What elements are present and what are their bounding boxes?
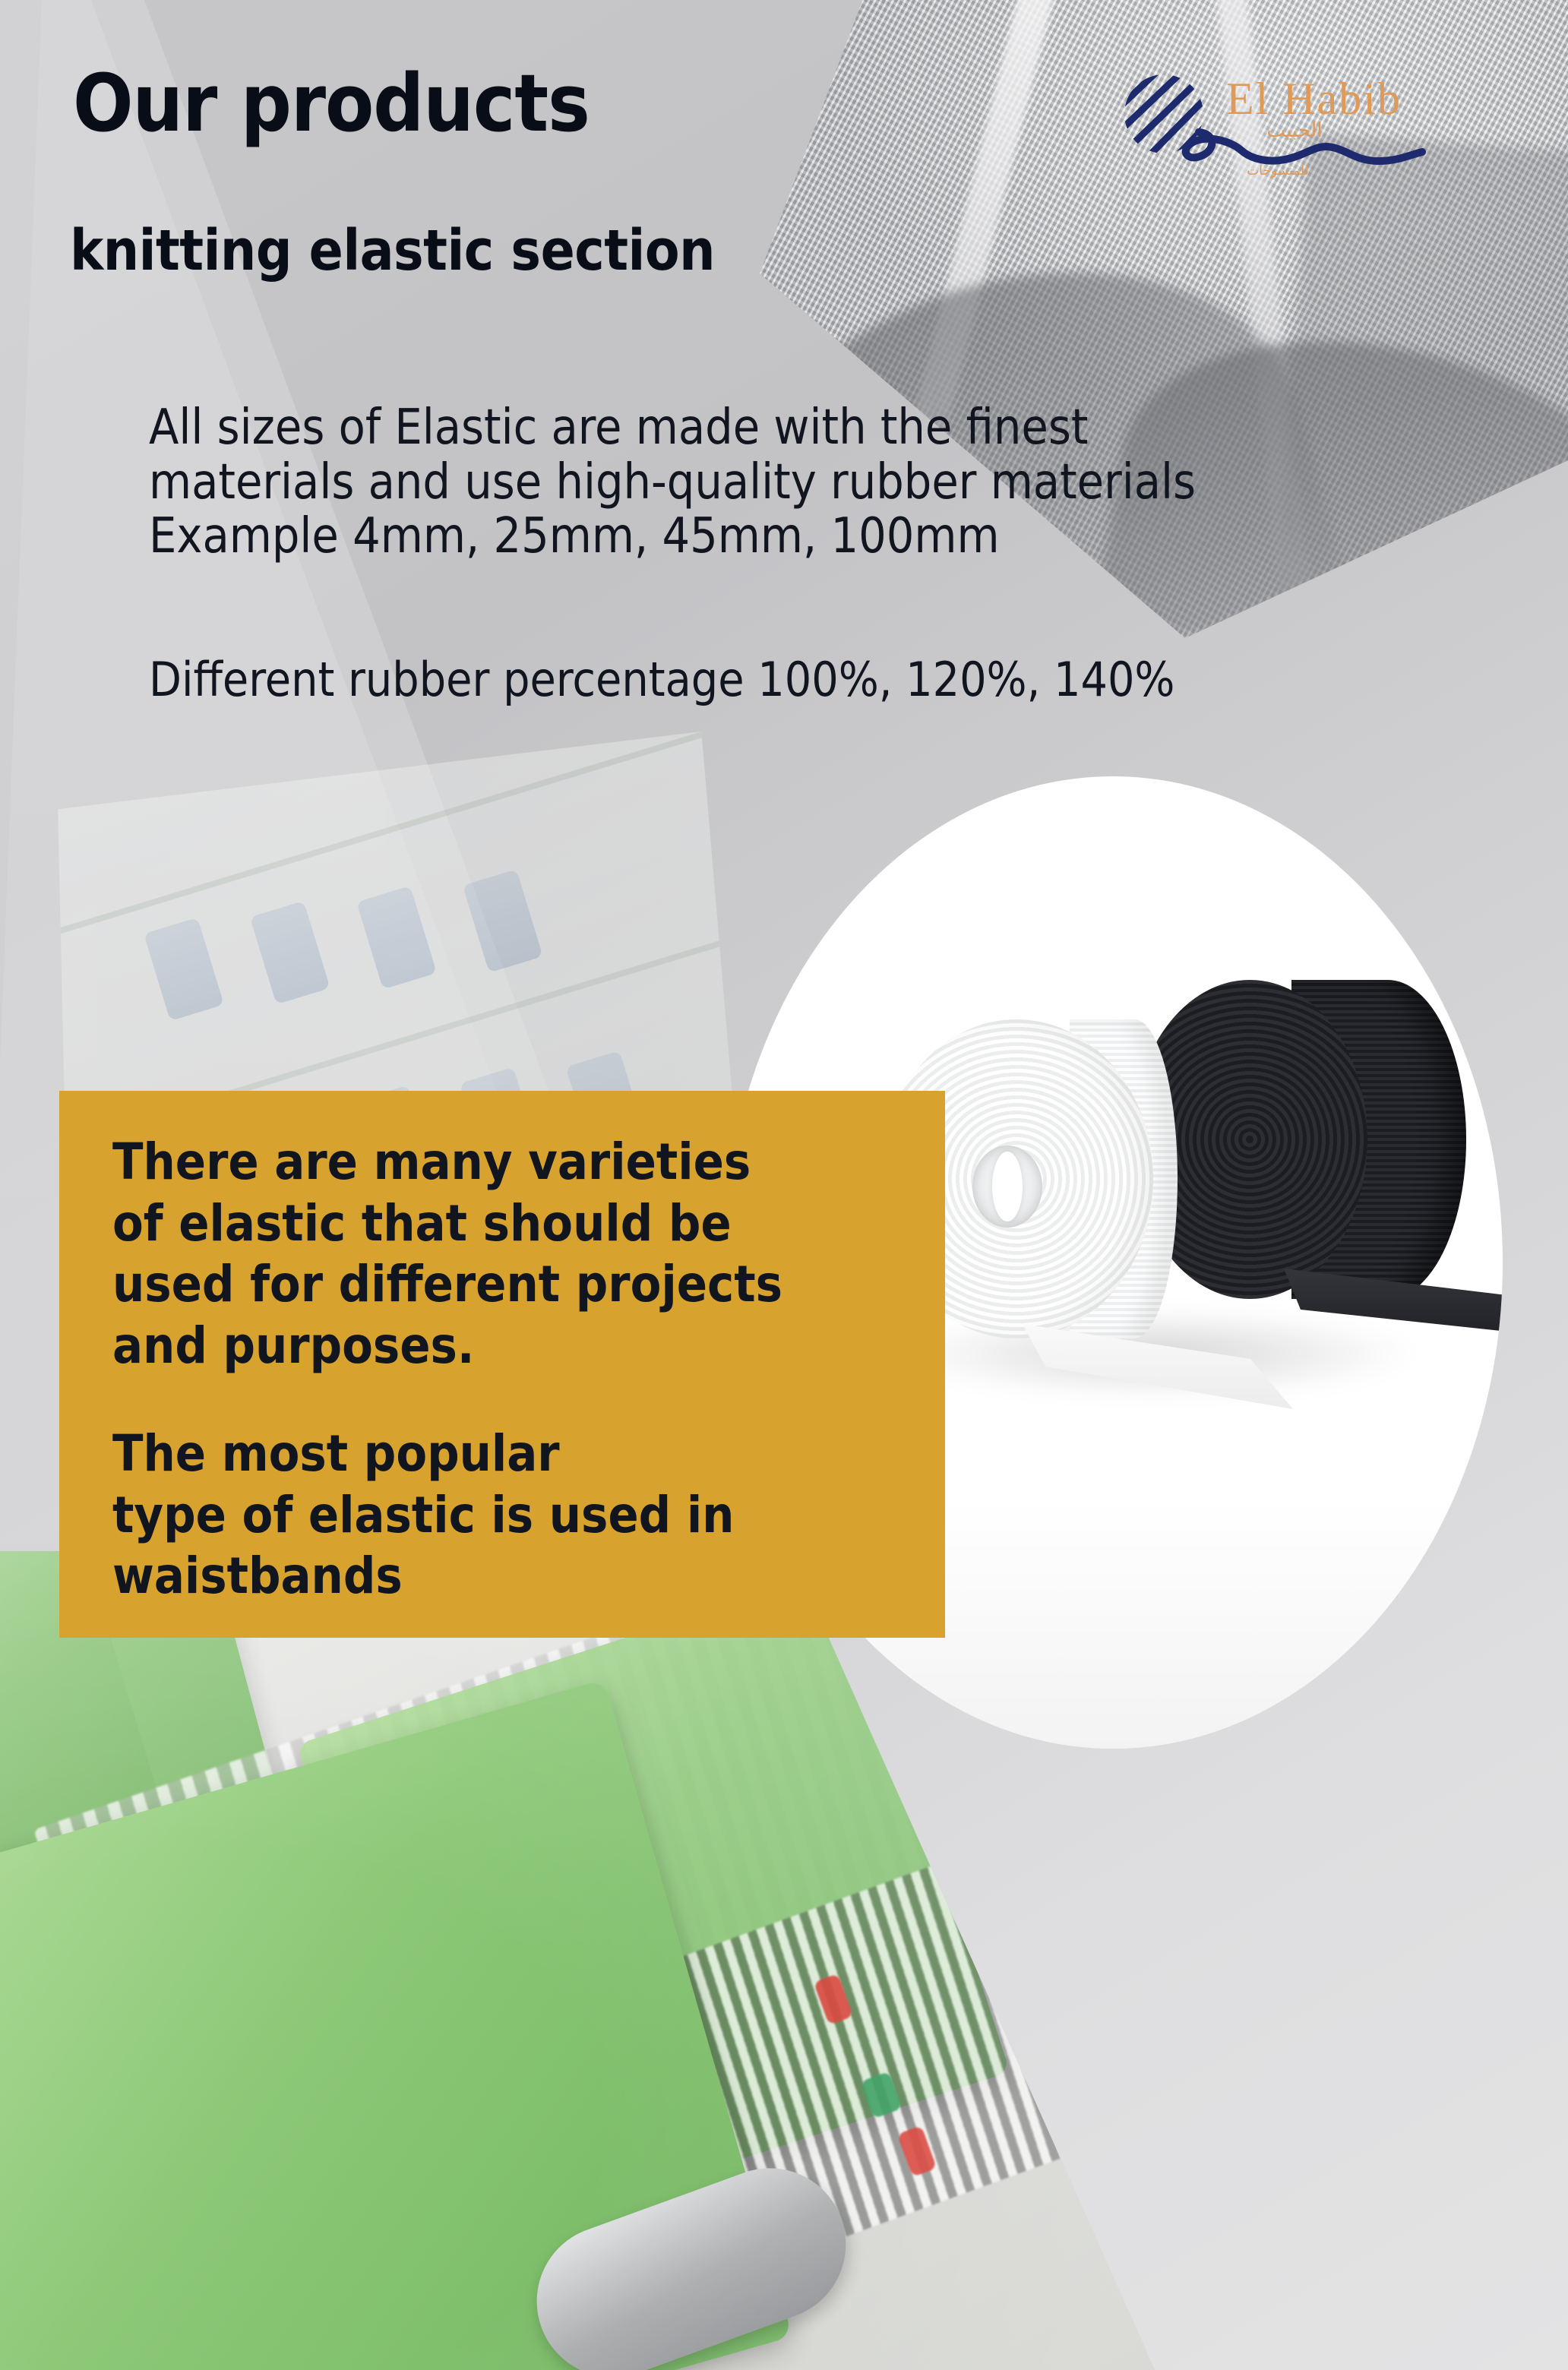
svg-text:El Habib: El Habib [1226, 74, 1402, 124]
page-subtitle: knitting elastic section [70, 220, 715, 282]
poster-canvas: El Habib الحبيب للمنسوجات Our products k… [0, 0, 1568, 2370]
page-title: Our products [73, 61, 590, 146]
brand-logo: El Habib الحبيب للمنسوجات [1115, 59, 1442, 196]
intro-line: Example 4mm, 25mm, 45mm, 100mm [149, 510, 1334, 564]
intro-line: All sizes of Elastic are made with the f… [149, 401, 1334, 456]
callout-paragraph-1: There are many varieties of elastic that… [112, 1132, 945, 1376]
svg-text:الحبيب: الحبيب [1266, 119, 1322, 142]
callout-paragraph-2: The most popular type of elastic is used… [112, 1424, 945, 1607]
intro-note: Different rubber percentage 100%, 120%, … [149, 652, 1174, 707]
intro-line: materials and use high-quality rubber ma… [149, 456, 1334, 510]
svg-text:للمنسوجات: للمنسوجات [1247, 163, 1308, 179]
intro-copy: All sizes of Elastic are made with the f… [149, 401, 1334, 564]
callout-box: There are many varieties of elastic that… [59, 1091, 945, 1638]
